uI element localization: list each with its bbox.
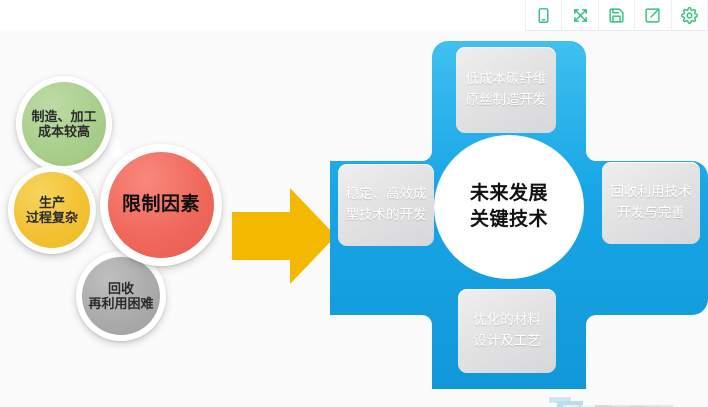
screenshot-root: 制造、加工 成本较高 生产 过程复杂 回收 再利用困难 限制因素 bbox=[0, 0, 708, 407]
tech-arm-label: 优化的材料 设计及工艺 bbox=[473, 310, 541, 352]
tech-arm-recycling-technology[interactable]: 回收利用技术 开发与完善 bbox=[602, 162, 700, 244]
transition-arrow bbox=[232, 186, 337, 286]
share-button[interactable] bbox=[634, 0, 670, 30]
limiting-factors-cluster: 制造、加工 成本较高 生产 过程复杂 回收 再利用困难 限制因素 bbox=[0, 31, 240, 371]
tech-arm-stable-forming[interactable]: 稳定、高效成 型技术的开发 bbox=[338, 164, 434, 246]
tech-arm-label: 低成本碳纤维 原丝制造开发 bbox=[466, 69, 547, 111]
gear-icon bbox=[681, 7, 698, 24]
settings-button[interactable] bbox=[671, 0, 708, 30]
factor-bubble-label: 回收 再利用困难 bbox=[84, 281, 157, 312]
floppy-save-icon bbox=[608, 7, 625, 24]
save-button[interactable] bbox=[598, 0, 634, 30]
mobile-preview-button[interactable] bbox=[525, 0, 561, 30]
factor-bubble-label: 制造、加工 成本较高 bbox=[27, 109, 100, 140]
toolbar bbox=[525, 0, 708, 31]
right-arrow-icon bbox=[232, 186, 337, 286]
tech-arm-low-cost-precursor[interactable]: 低成本碳纤维 原丝制造开发 bbox=[456, 47, 556, 133]
share-export-icon bbox=[644, 7, 661, 24]
fullscreen-button[interactable] bbox=[561, 0, 597, 30]
blurred-watermark bbox=[549, 397, 674, 407]
limiting-factors-center-bubble[interactable]: 限制因素 bbox=[100, 144, 222, 266]
limiting-factors-center-label: 限制因素 bbox=[118, 194, 204, 216]
key-technologies-center-label: 未来发展 关键技术 bbox=[470, 181, 548, 232]
tech-arm-label: 稳定、高效成 型技术的开发 bbox=[346, 184, 427, 226]
diagram-artboard: 制造、加工 成本较高 生产 过程复杂 回收 再利用困难 限制因素 bbox=[0, 31, 708, 407]
key-technologies-diagram: 低成本碳纤维 原丝制造开发 稳定、高效成 型技术的开发 回收利用技术 开发与完善… bbox=[330, 39, 708, 389]
mobile-icon bbox=[535, 7, 552, 24]
tech-arm-material-design[interactable]: 优化的材料 设计及工艺 bbox=[458, 289, 556, 373]
fullscreen-expand-icon bbox=[572, 7, 589, 24]
tech-arm-label: 回收利用技术 开发与完善 bbox=[611, 182, 692, 224]
factor-bubble-complex-process[interactable]: 生产 过程复杂 bbox=[8, 166, 96, 254]
factor-bubble-label: 生产 过程复杂 bbox=[22, 195, 82, 226]
factor-bubble-manufacturing-cost[interactable]: 制造、加工 成本较高 bbox=[16, 76, 112, 172]
key-technologies-center-hub[interactable]: 未来发展 关键技术 bbox=[435, 136, 583, 278]
